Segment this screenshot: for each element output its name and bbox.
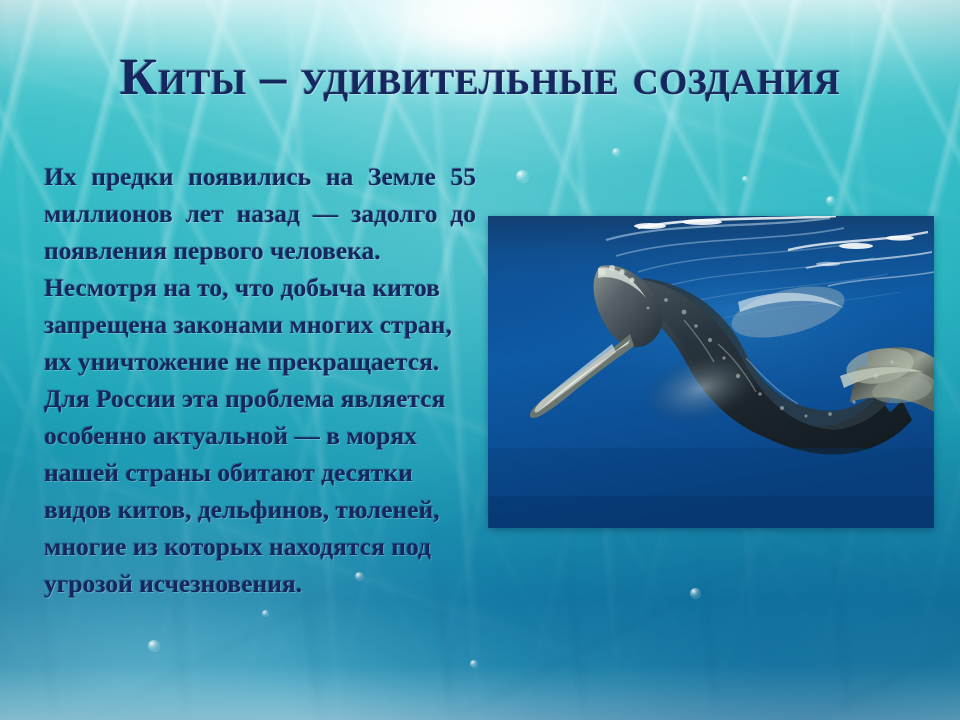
slide-title: Киты – удивительные создания [0, 52, 960, 104]
bubble-icon [262, 610, 269, 617]
slide-body-text: Их предки появились на Земле 55 миллионо… [44, 158, 476, 602]
whale-photograph [488, 216, 934, 528]
bubble-icon [826, 196, 836, 206]
bubble-icon [470, 660, 478, 668]
body-paragraph: Несмотря на то, что добыча китов запреще… [44, 269, 476, 602]
bubble-icon [516, 170, 529, 183]
bubble-icon [690, 588, 701, 599]
bubble-icon [742, 176, 749, 183]
body-paragraph: Их предки появились на Земле 55 миллионо… [44, 158, 476, 269]
bubble-icon [148, 640, 160, 652]
presentation-slide: Киты – удивительные создания Их предки п… [0, 0, 960, 720]
whale-photo-illustration [488, 216, 934, 528]
bubble-icon [612, 148, 621, 157]
